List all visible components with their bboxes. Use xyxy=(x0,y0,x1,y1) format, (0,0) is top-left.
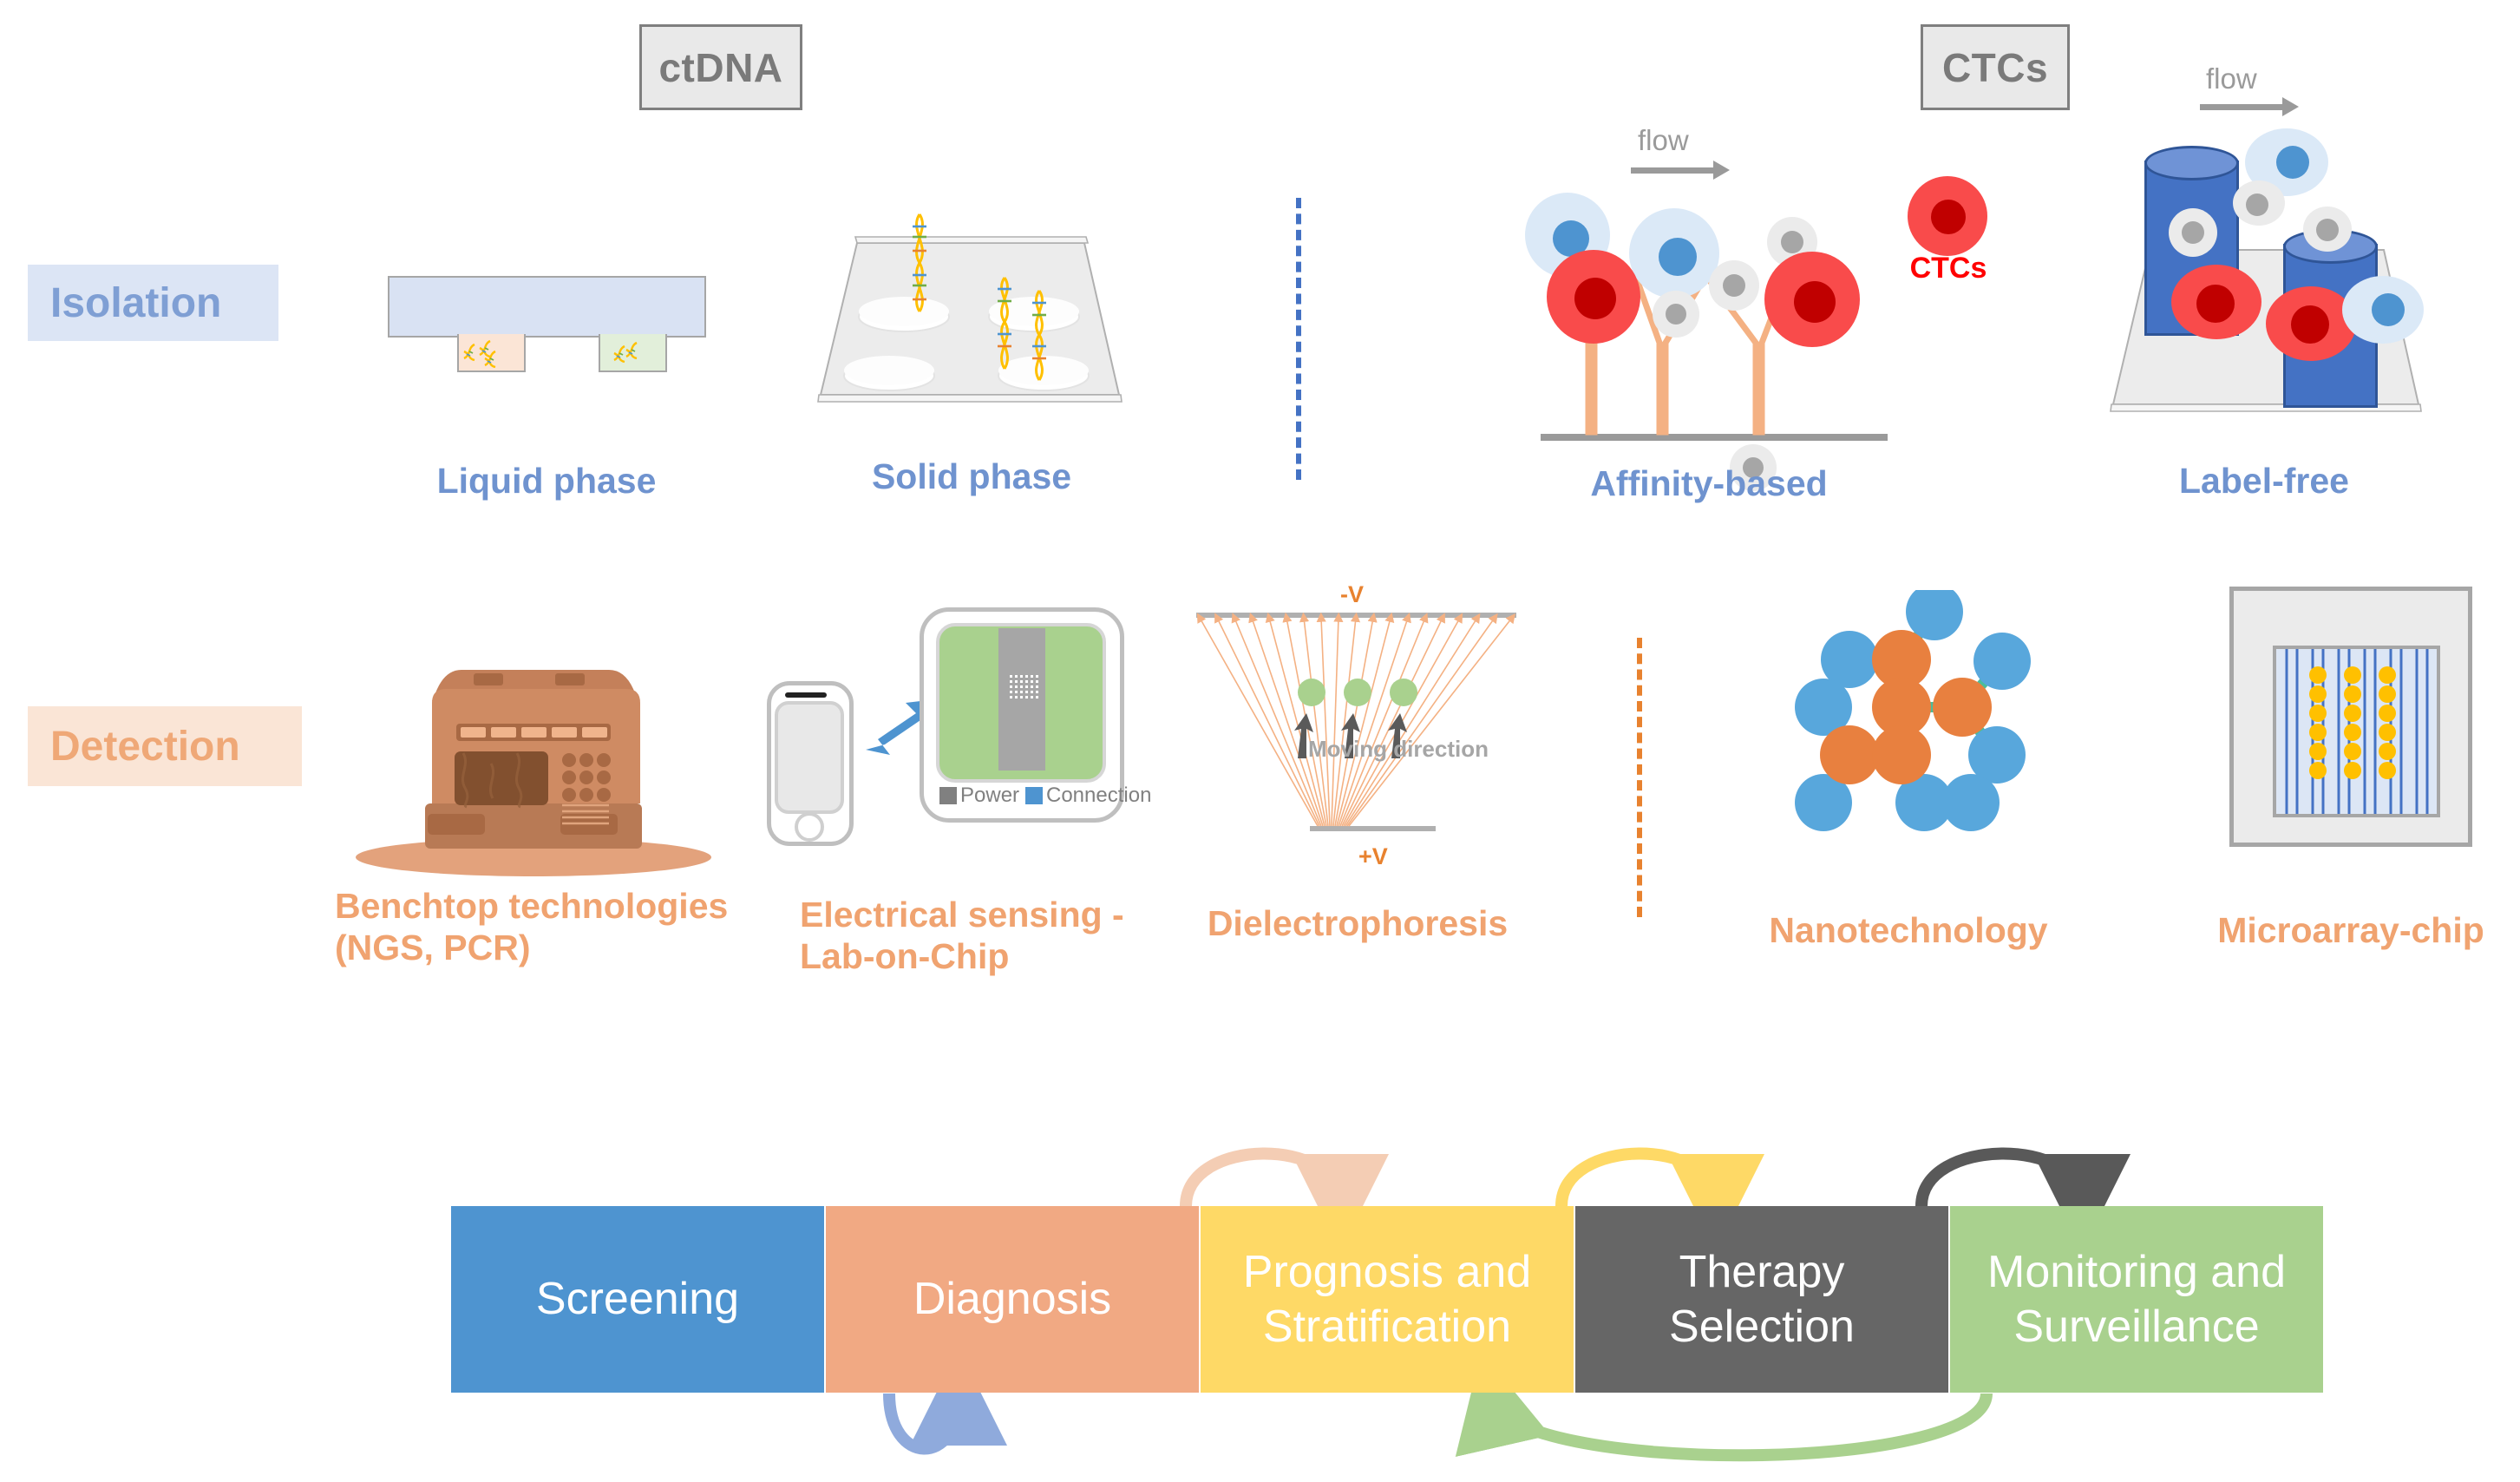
dep-particle xyxy=(1298,679,1325,706)
platelet-nucleus xyxy=(2182,221,2204,244)
flow-arrow-head-affinity xyxy=(1713,161,1730,180)
dna-helix-icon xyxy=(600,334,665,370)
dep-particle xyxy=(1344,679,1371,706)
workflow-box-therapy-label: Therapy Selection xyxy=(1669,1245,1855,1354)
caption-electrical-sensing: Electrical sensing - Lab-on-Chip xyxy=(800,894,1173,978)
row-label-isolation-text: Isolation xyxy=(50,279,221,327)
wbc-nucleus xyxy=(2276,146,2309,179)
dep-moving-direction-label: Moving direction xyxy=(1308,736,1489,763)
workflow-box-prognosis[interactable]: Prognosis and Stratification xyxy=(1201,1206,1574,1393)
phone-speaker-icon xyxy=(785,692,827,698)
dep-negative-voltage-label: -V xyxy=(1340,581,1364,608)
chip-microarray-grid-icon xyxy=(1010,675,1039,703)
caption-liquid-phase: Liquid phase xyxy=(373,460,720,502)
caption-microarray-chip: Microarray-chip xyxy=(2216,909,2485,951)
dep-particle xyxy=(1390,679,1417,706)
liquid-phase-well-green xyxy=(599,334,667,372)
row-label-isolation: Isolation xyxy=(28,265,278,341)
caption-affinity-based: Affinity-based xyxy=(1527,462,1891,504)
flow-arrow-labelfree xyxy=(2200,104,2282,110)
ctc-legend-nucleus xyxy=(1931,200,1966,234)
row-label-detection: Detection xyxy=(28,706,302,786)
workflow-box-screening-label: Screening xyxy=(536,1272,739,1326)
header-chip-ctdna-label: ctDNA xyxy=(658,44,782,91)
caption-nanotechnology: Nanotechnology xyxy=(1761,909,2056,951)
microarray-active-area xyxy=(2273,646,2440,817)
molecule-icon xyxy=(1770,590,2056,868)
benchtop-instrument-icon xyxy=(347,633,746,885)
benchtop-instrument-illustration xyxy=(347,633,746,885)
workflow-box-monitoring-label: Monitoring and Surveillance xyxy=(1987,1245,2286,1354)
micropillar-top xyxy=(2144,146,2239,180)
caption-dielectrophoresis: Dielectrophoresis xyxy=(1197,902,1518,944)
workflow-box-monitoring[interactable]: Monitoring and Surveillance xyxy=(1950,1206,2323,1393)
phone-screen xyxy=(775,701,844,814)
header-chip-ctcs-label: CTCs xyxy=(1942,44,2048,91)
microarray-grid-icon xyxy=(2276,649,2437,814)
wbc-nucleus xyxy=(2372,293,2405,326)
workflow-box-therapy[interactable]: Therapy Selection xyxy=(1575,1206,1948,1393)
legend-swatch-power xyxy=(939,787,957,804)
ctc-nucleus xyxy=(1574,278,1616,319)
liquid-phase-channel xyxy=(388,276,706,338)
legend-label-connection: Connection xyxy=(1046,784,1151,808)
workflow-box-screening[interactable]: Screening xyxy=(451,1206,824,1393)
solid-phase-plate-icon xyxy=(798,195,1145,447)
liquid-phase-well-orange xyxy=(457,334,526,372)
dna-helix-icon xyxy=(459,334,524,370)
flow-arrow-affinity xyxy=(1631,167,1713,174)
solid-phase-illustration xyxy=(798,195,1145,447)
ctc-nucleus xyxy=(1794,281,1836,323)
wbc-nucleus xyxy=(1659,238,1697,276)
platelet-nucleus xyxy=(1666,304,1686,325)
isolation-column-divider xyxy=(1296,198,1301,480)
ctc-nucleus xyxy=(2291,305,2329,344)
workflow-box-diagnosis[interactable]: Diagnosis xyxy=(826,1206,1199,1393)
flow-arrow-head-labelfree xyxy=(2282,97,2299,116)
platelet-nucleus xyxy=(2246,193,2268,216)
legend-label-power: Power xyxy=(960,784,1019,808)
legend-swatch-connection xyxy=(1025,787,1043,804)
caption-label-free: Label-free xyxy=(2091,460,2438,502)
workflow-box-prognosis-label: Prognosis and Stratification xyxy=(1243,1245,1531,1354)
ctc-nucleus xyxy=(2196,285,2235,323)
dep-positive-voltage-label: +V xyxy=(1358,843,1388,870)
row-label-detection-text: Detection xyxy=(50,723,240,771)
caption-benchtop: Benchtop technologies (NGS, PCR) xyxy=(335,885,743,969)
flow-label-labelfree: flow xyxy=(2206,62,2257,95)
ctc-legend-label: CTCs xyxy=(1908,252,1988,285)
header-chip-ctcs: CTCs xyxy=(1921,24,2070,110)
caption-solid-phase: Solid phase xyxy=(798,456,1145,497)
workflow-box-diagnosis-label: Diagnosis xyxy=(913,1272,1111,1326)
flow-label-affinity: flow xyxy=(1638,124,1689,157)
platelet-nucleus xyxy=(1723,274,1745,297)
nanotechnology-illustration xyxy=(1770,590,2056,868)
header-chip-ctdna: ctDNA xyxy=(639,24,802,110)
detection-column-divider xyxy=(1637,638,1642,917)
platelet-nucleus xyxy=(1781,231,1803,253)
platelet-nucleus xyxy=(2316,219,2339,241)
phone-home-button-icon[interactable] xyxy=(795,812,824,842)
